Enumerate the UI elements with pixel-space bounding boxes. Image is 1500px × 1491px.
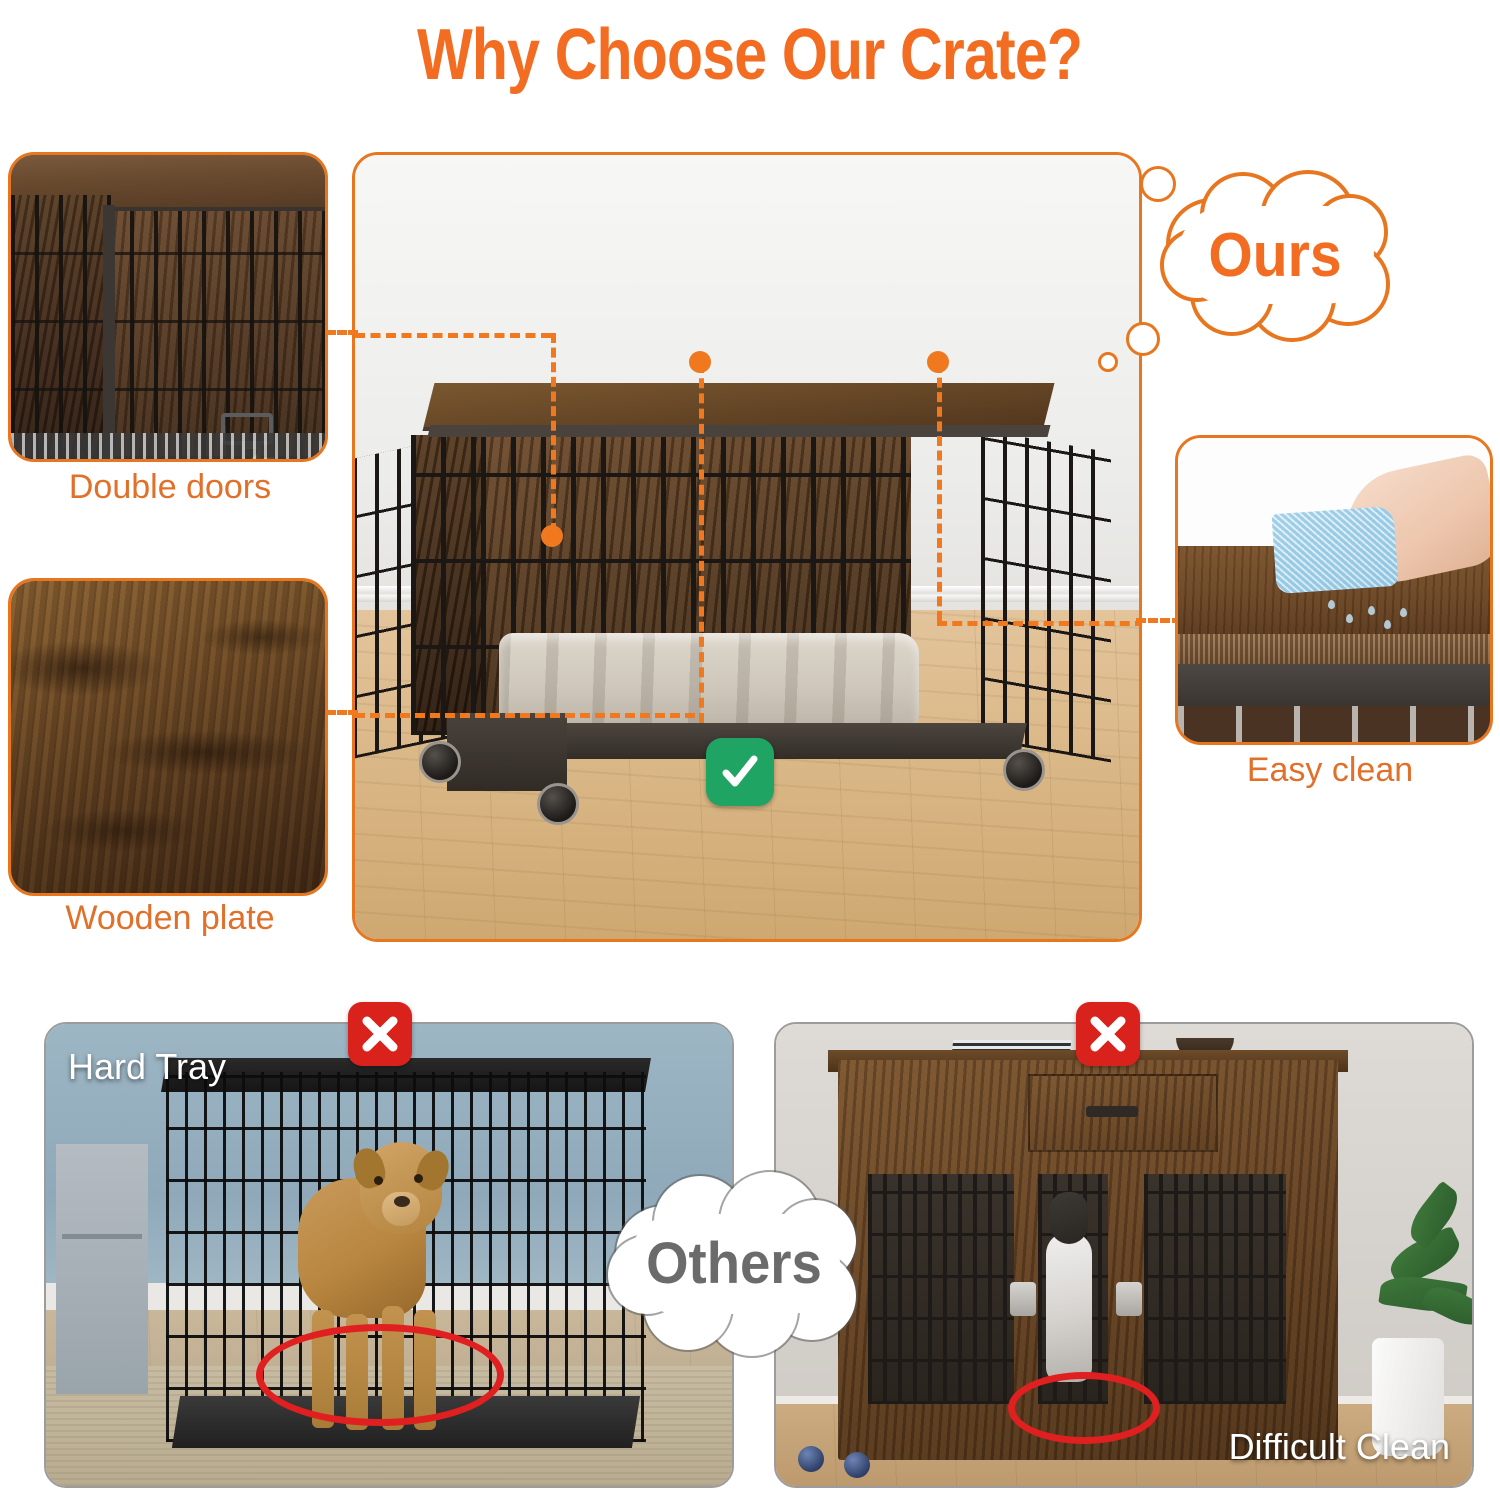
hero-product-photo[interactable]	[352, 152, 1142, 942]
cloud-bubble-small	[1126, 322, 1160, 356]
dog-in-crate	[1038, 1192, 1100, 1392]
cabinet-door-right	[1144, 1174, 1286, 1404]
cabinet-door-left	[868, 1174, 1014, 1404]
door-hinge	[1010, 1282, 1036, 1316]
callout-dot-doors	[541, 525, 563, 547]
dog-body	[1046, 1232, 1092, 1382]
wire-grid	[411, 435, 485, 735]
background-shelf	[56, 1144, 148, 1394]
dog-eye	[374, 1176, 383, 1185]
crate-metal-frame	[1178, 664, 1490, 706]
caster-wheel	[798, 1446, 824, 1472]
door-hinge	[1116, 1282, 1142, 1316]
cloud-bubble-small	[1098, 352, 1118, 372]
tabletop-edge	[1178, 634, 1490, 664]
dog-nose	[394, 1196, 410, 1207]
drawer-handle	[1086, 1106, 1138, 1117]
caption-double-doors: Double doors	[0, 470, 340, 506]
callout-line-doors	[355, 333, 551, 338]
wood-grain-texture	[11, 581, 325, 893]
wire-bars-horizontal	[11, 195, 111, 459]
callout-line-clean-vertical	[937, 363, 942, 621]
caption-wooden-plate: Wooden plate	[0, 901, 340, 937]
caster-wheel	[419, 741, 461, 783]
crate-left-side	[411, 435, 485, 735]
water-droplet	[1368, 606, 1375, 615]
others-label: Others	[616, 1172, 853, 1354]
callout-stub-doors	[326, 330, 358, 335]
close-icon	[1087, 1013, 1129, 1055]
wire-bars-horizontal	[106, 211, 325, 459]
feature-inset-wooden-plate[interactable]	[8, 578, 328, 896]
callout-stub-wood	[326, 710, 358, 715]
callout-line-clean	[937, 621, 1142, 626]
feature-inset-double-doors[interactable]	[8, 152, 328, 462]
label-hard-tray: Hard Tray	[68, 1046, 226, 1088]
water-droplet	[1400, 608, 1407, 617]
ours-label: Ours	[1169, 170, 1381, 340]
status-badge-rejected-right	[1076, 1002, 1140, 1066]
caption-easy-clean: Easy clean	[1160, 753, 1500, 789]
problem-highlight-ellipse	[1008, 1372, 1160, 1444]
status-badge-rejected-left	[348, 1002, 412, 1066]
check-icon	[718, 750, 762, 794]
problem-highlight-ellipse	[256, 1324, 504, 1426]
callout-line-tabletop-vertical	[699, 363, 704, 723]
water-droplet	[1384, 620, 1391, 629]
water-droplet	[1346, 614, 1353, 623]
status-badge-approved	[706, 738, 774, 806]
dog-eye	[414, 1174, 423, 1183]
cleaning-cloth-icon	[1271, 506, 1398, 594]
page-title: Why Choose Our Crate?	[417, 19, 1082, 91]
dog-head	[1050, 1192, 1088, 1244]
crate-side-panel	[11, 195, 111, 459]
crate-leg-frame	[447, 713, 567, 791]
caster-wheel	[844, 1452, 870, 1478]
label-difficult-clean: Difficult Clean	[1229, 1426, 1450, 1468]
water-droplet	[1328, 600, 1335, 609]
crate-tray-base	[11, 433, 325, 459]
comparison-photo-difficult-clean[interactable]: Difficult Clean	[774, 1022, 1474, 1488]
caster-wheel	[537, 783, 579, 825]
crate-top-frame-edge	[428, 425, 1051, 437]
callout-line-doors-vertical	[551, 333, 556, 533]
ours-speech-bubble: Ours	[1160, 170, 1390, 340]
crate-back-wood	[106, 211, 325, 459]
door-latch-left	[63, 460, 101, 462]
crate-bars	[1178, 706, 1490, 742]
caster-wheel	[1003, 749, 1045, 791]
close-icon	[359, 1013, 401, 1055]
crate-frame-post	[103, 205, 115, 459]
crate-wooden-tabletop	[424, 383, 1055, 427]
crate-door-side-open	[981, 430, 1111, 763]
page-header: Why Choose Our Crate?	[0, 0, 1500, 110]
double-doors-photo	[11, 155, 325, 459]
callout-line-wood	[355, 713, 695, 718]
others-speech-bubble: Others	[608, 1172, 860, 1354]
feature-inset-easy-clean[interactable]	[1175, 435, 1493, 745]
